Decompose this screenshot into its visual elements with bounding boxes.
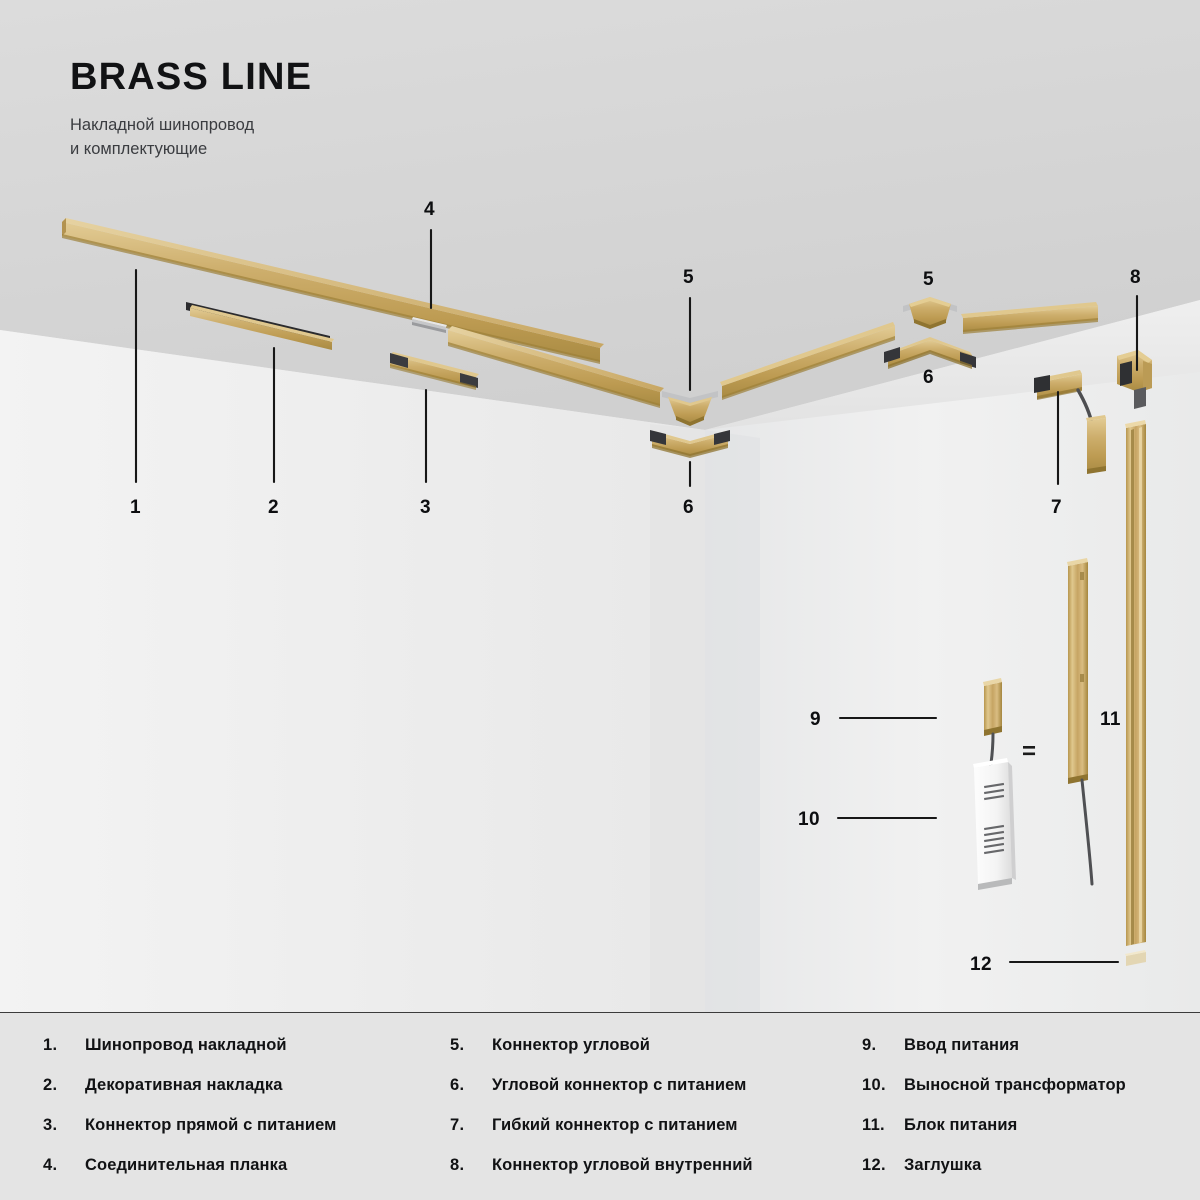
legend: 1. Шинопровод накладной 2. Декоративная … — [0, 1014, 1200, 1200]
callout-number-6a: 6 — [683, 498, 694, 517]
list-item: 10. Выносной трансформатор — [862, 1076, 1192, 1116]
callout-number-4: 4 — [424, 200, 435, 219]
list-item: 12. Заглушка — [862, 1156, 1192, 1196]
list-item: 9. Ввод питания — [862, 1036, 1192, 1076]
wall-left — [0, 330, 705, 1013]
callout-number-7: 7 — [1051, 498, 1062, 517]
callout-number-1: 1 — [130, 498, 141, 517]
list-item: 6. Угловой коннектор с питанием — [450, 1076, 860, 1116]
list-item: 8. Коннектор угловой внутренний — [450, 1156, 860, 1196]
legend-number: 11. — [862, 1116, 904, 1135]
list-item: 1. Шинопровод накладной — [43, 1036, 443, 1076]
callout-number-2: 2 — [268, 498, 279, 517]
legend-number: 5. — [450, 1036, 492, 1055]
legend-number: 10. — [862, 1076, 904, 1095]
legend-label: Выносной трансформатор — [904, 1076, 1126, 1095]
list-item: 3. Коннектор прямой с питанием — [43, 1116, 443, 1156]
callout-number-6b: 6 — [923, 368, 934, 387]
legend-label: Коннектор прямой с питанием — [85, 1116, 336, 1135]
legend-number: 4. — [43, 1156, 85, 1175]
track-rail-vertical-wall — [1125, 420, 1146, 946]
legend-label: Блок питания — [904, 1116, 1017, 1135]
list-item: 7. Гибкий коннектор с питанием — [450, 1116, 860, 1156]
page-subtitle: Накладной шинопровод и комплектующие — [70, 114, 400, 162]
list-item: 11. Блок питания — [862, 1116, 1192, 1156]
legend-label: Шинопровод накладной — [85, 1036, 287, 1055]
page-title: BRASS LINE — [70, 58, 770, 96]
legend-number: 3. — [43, 1116, 85, 1135]
legend-label: Соединительная планка — [85, 1156, 287, 1175]
equals-symbol: = — [1022, 740, 1036, 764]
callout-number-8: 8 — [1130, 268, 1141, 287]
list-item: 2. Декоративная накладка — [43, 1076, 443, 1116]
legend-label: Ввод питания — [904, 1036, 1019, 1055]
legend-label: Декоративная накладка — [85, 1076, 283, 1095]
legend-number: 8. — [450, 1156, 492, 1175]
legend-label: Угловой коннектор с питанием — [492, 1076, 746, 1095]
list-item: 5. Коннектор угловой — [450, 1036, 860, 1076]
subtitle-line-1: Накладной шинопровод — [70, 114, 400, 138]
legend-label: Коннектор угловой внутренний — [492, 1156, 753, 1175]
callout-number-9: 9 — [810, 710, 821, 729]
legend-number: 1. — [43, 1036, 85, 1055]
corner-shadow — [705, 430, 760, 1013]
external-transformer-10 — [973, 758, 1016, 890]
legend-number: 7. — [450, 1116, 492, 1135]
legend-column-2: 5. Коннектор угловой 6. Угловой коннекто… — [450, 1036, 860, 1196]
callout-number-5a: 5 — [683, 268, 694, 287]
callout-number-10: 10 — [798, 810, 820, 829]
legend-number: 2. — [43, 1076, 85, 1095]
callout-number-12: 12 — [970, 955, 992, 974]
corner-shadow-left — [650, 424, 705, 1013]
list-item: 4. Соединительная планка — [43, 1156, 443, 1196]
legend-label: Заглушка — [904, 1156, 981, 1175]
legend-number: 9. — [862, 1036, 904, 1055]
subtitle-line-2: и комплектующие — [70, 138, 400, 162]
callout-number-5b: 5 — [923, 270, 934, 289]
wall-right — [705, 372, 1200, 1013]
legend-column-1: 1. Шинопровод накладной 2. Декоративная … — [43, 1036, 443, 1196]
callout-number-3: 3 — [420, 498, 431, 517]
callout-number-11: 11 — [1100, 710, 1121, 729]
legend-number: 6. — [450, 1076, 492, 1095]
legend-label: Гибкий коннектор с питанием — [492, 1116, 738, 1135]
legend-column-3: 9. Ввод питания 10. Выносной трансформат… — [862, 1036, 1192, 1196]
header: BRASS LINE Накладной шинопровод и компле… — [70, 58, 770, 162]
legend-label: Коннектор угловой — [492, 1036, 650, 1055]
legend-number: 12. — [862, 1156, 904, 1175]
